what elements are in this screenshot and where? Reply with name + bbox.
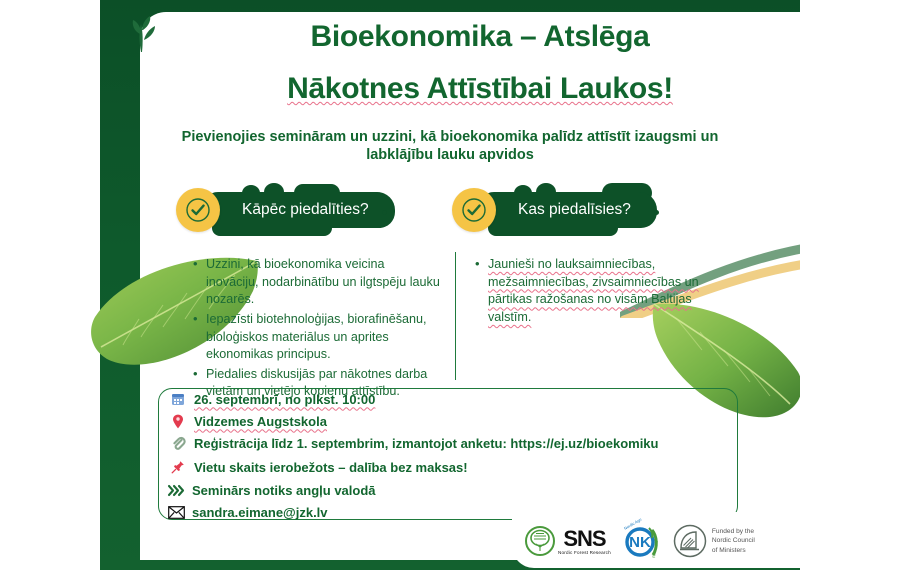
- paperclip-icon: [168, 434, 188, 452]
- envelope-icon: [166, 503, 186, 521]
- section-title-who: Kas piedalīsies?: [478, 192, 657, 228]
- detail-row-language: Seminārs notiks angļu valodā: [166, 481, 376, 499]
- chevrons-right-icon: [166, 481, 186, 499]
- title-line2-text: Nākotnes Attīstībai Laukos!: [287, 72, 673, 105]
- pushpin-icon: [168, 458, 188, 476]
- detail-language-text: Seminārs notiks angļu valodā: [192, 483, 376, 498]
- funded-line1: Funded by the: [712, 527, 755, 537]
- panel-corner-mask: [800, 0, 900, 570]
- wheat-sprig-icon: [128, 14, 162, 54]
- logo-nkj: NK Nordic Agri Research: [619, 518, 665, 564]
- calendar-icon: [168, 390, 188, 408]
- logo-nordic-council: Funded by the Nordic Council of Minister…: [673, 524, 755, 558]
- section-title-why: Kāpēc piedalīties?: [202, 192, 395, 228]
- list-item: Iepazīsti biotehnoloģijas, biorafinēšanu…: [204, 311, 440, 364]
- section-header-who: Kas piedalīsies?: [452, 188, 712, 232]
- funded-line2: Nordic Council: [712, 536, 755, 546]
- list-item: Uzzini, kā bioekonomika veicina inovācij…: [204, 256, 440, 309]
- detail-seats-text: Vietu skaits ierobežots – dalība bez mak…: [194, 460, 468, 475]
- title-line1-text: Bioekonomika – Atslēga: [310, 20, 649, 53]
- detail-row-seats: Vietu skaits ierobežots – dalība bez mak…: [168, 458, 468, 476]
- column-divider: [455, 252, 456, 380]
- title-block: Bioekonomika – Atslēga Nākotnes Attīstīb…: [160, 22, 780, 104]
- logo-strip: SNS Nordic Forest Research NK Nordic Agr…: [525, 514, 805, 568]
- pill-dot: [382, 210, 387, 215]
- nordic-swan-icon: [673, 524, 707, 558]
- bullet-list-who: Jaunieši no lauksaimniecības, mežsaimnie…: [472, 256, 704, 329]
- bullet-list-why: Uzzini, kā bioekonomika veicina inovācij…: [190, 256, 440, 403]
- section-why-label: Kāpēc piedalīties?: [242, 201, 369, 219]
- bullet-text: Uzzini, kā bioekonomika veicina inovācij…: [206, 257, 440, 306]
- sns-wordmark: SNS: [563, 528, 605, 550]
- nkj-circle-icon: NK Nordic Agri Research: [619, 518, 665, 564]
- svg-text:NK: NK: [629, 534, 651, 551]
- page-title-line2: Nākotnes Attīstībai Laukos!: [160, 74, 780, 104]
- page-title-line1: Bioekonomika – Atslēga: [160, 22, 780, 52]
- detail-registration-text[interactable]: Reģistrācija līdz 1. septembrim, izmanto…: [194, 436, 658, 451]
- pill-dot: [654, 210, 659, 215]
- check-circle-icon: [176, 188, 220, 232]
- detail-location-text[interactable]: Vidzemes Augstskola: [194, 414, 327, 429]
- detail-row-email: sandra.eimane@jzk.lv: [166, 503, 328, 521]
- detail-row-date: 26. septembrī, no plkst. 10:00: [168, 390, 375, 408]
- poster-canvas: Bioekonomika – Atslēga Nākotnes Attīstīb…: [0, 0, 900, 570]
- logo-sns: SNS Nordic Forest Research: [525, 526, 611, 556]
- sns-tree-icon: [525, 526, 555, 556]
- location-pin-icon: [168, 412, 188, 430]
- section-header-why: Kāpēc piedalīties?: [176, 188, 436, 232]
- check-circle-icon: [452, 188, 496, 232]
- detail-date-text: 26. septembrī, no plkst. 10:00: [194, 392, 375, 407]
- detail-email-text[interactable]: sandra.eimane@jzk.lv: [192, 505, 328, 520]
- nordic-council-caption: Funded by the Nordic Council of Minister…: [712, 527, 755, 556]
- bullet-text: Iepazīsti biotehnoloģijas, biorafinēšanu…: [206, 312, 427, 361]
- sns-caption: Nordic Forest Research: [558, 550, 611, 555]
- list-item: Jaunieši no lauksaimniecības, mežsaimnie…: [486, 256, 704, 327]
- detail-row-registration: Reģistrācija līdz 1. septembrim, izmanto…: [168, 434, 658, 452]
- detail-row-location: Vidzemes Augstskola: [168, 412, 327, 430]
- section-who-label: Kas piedalīsies?: [518, 201, 631, 219]
- funded-line3: of Ministers: [712, 546, 755, 556]
- bullet-text: Jaunieši no lauksaimniecības, mežsaimnie…: [488, 257, 699, 324]
- page-subtitle: Pievienojies semināram un uzzini, kā bio…: [170, 128, 730, 164]
